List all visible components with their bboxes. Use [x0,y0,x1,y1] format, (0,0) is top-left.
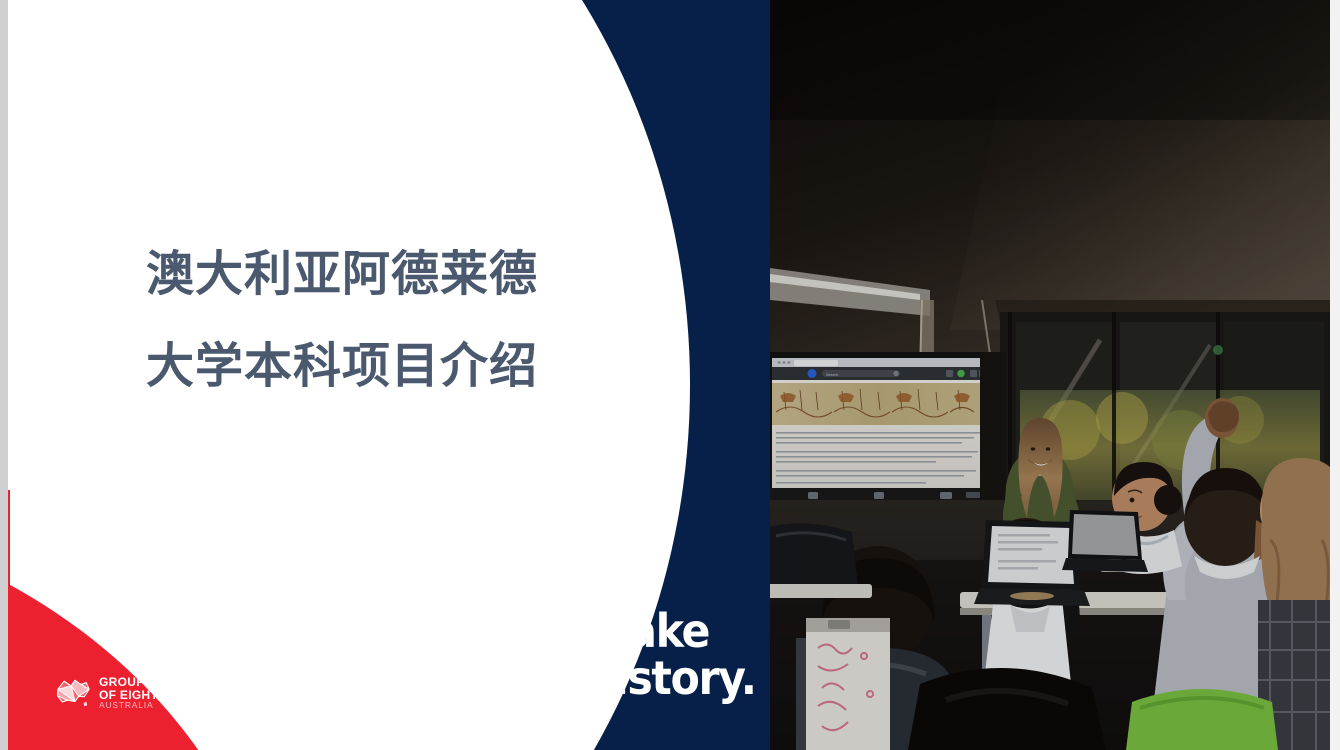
logo-line-group: GROUP [99,676,158,688]
australia-map-icon [55,676,93,710]
brand-panel: 澳大利亚阿德莱德 大学本科项目介绍 make history. [0,0,770,750]
title-line-2: 大学本科项目介绍 [146,320,616,412]
slide-left-edge [0,0,8,750]
page-title: 澳大利亚阿德莱德 大学本科项目介绍 [146,228,616,412]
title-line-1: 澳大利亚阿德莱德 [146,228,616,320]
title-slide: 澳大利亚阿德莱德 大学本科项目介绍 make history. [0,0,1340,750]
classroom-photo: Search [770,0,1340,750]
logo-line-australia: AUSTRALIA [99,701,158,710]
group-of-eight-logo: GROUP OF EIGHT AUSTRALIA [55,676,158,710]
wordmark-line-2: history. [585,655,756,702]
slide-right-edge [1330,0,1340,750]
wordmark-line-1: make [585,608,756,655]
make-history-wordmark: make history. [585,608,756,702]
group-of-eight-text: GROUP OF EIGHT AUSTRALIA [99,676,158,709]
